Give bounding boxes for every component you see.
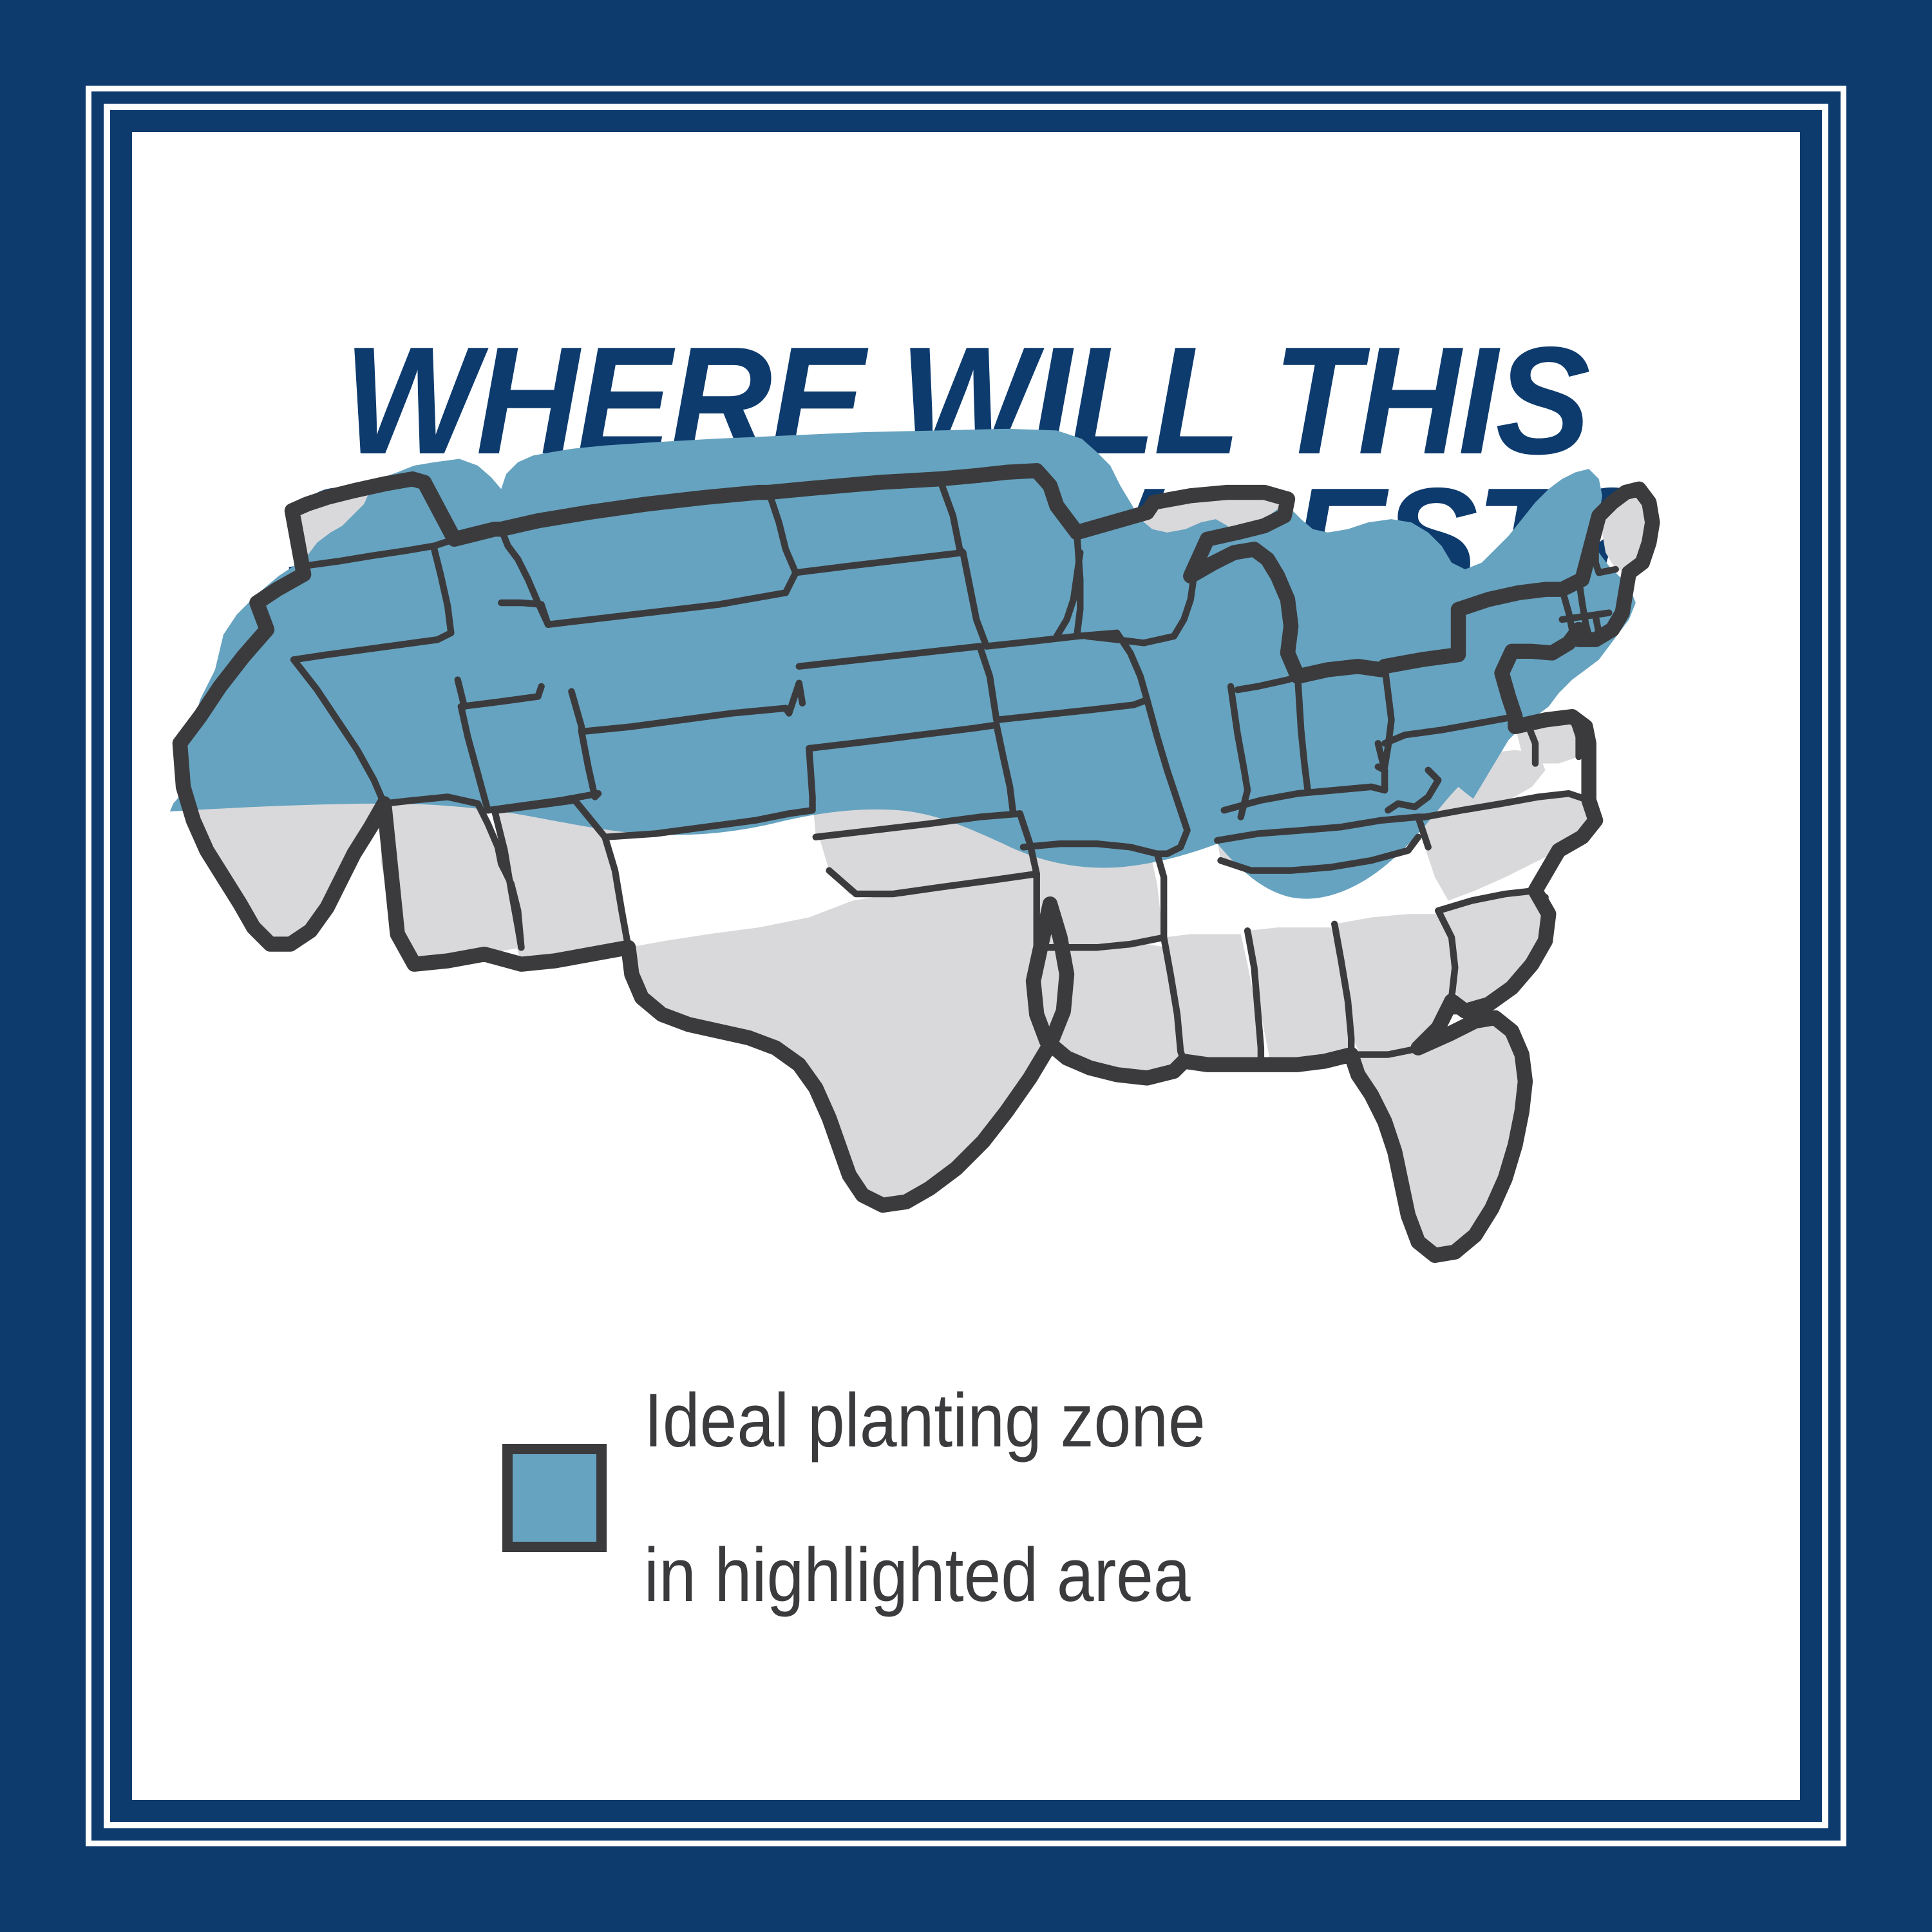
legend-label-line-1: Ideal planting zone: [644, 1382, 1206, 1459]
poster-canvas: WHERE WILL THIS SEED GROW BEST?: [132, 132, 1800, 1800]
poster-frame: WHERE WILL THIS SEED GROW BEST?: [0, 0, 1932, 1932]
us-map-svg: [132, 415, 1794, 1394]
us-planting-zone-map: [132, 415, 1794, 1394]
map-legend: Ideal planting zone in highlighted area: [502, 1304, 1282, 1692]
legend-color-swatch: [502, 1444, 607, 1552]
legend-label-line-2: in highlighted area: [644, 1537, 1206, 1614]
legend-label: Ideal planting zone in highlighted area: [644, 1304, 1206, 1692]
